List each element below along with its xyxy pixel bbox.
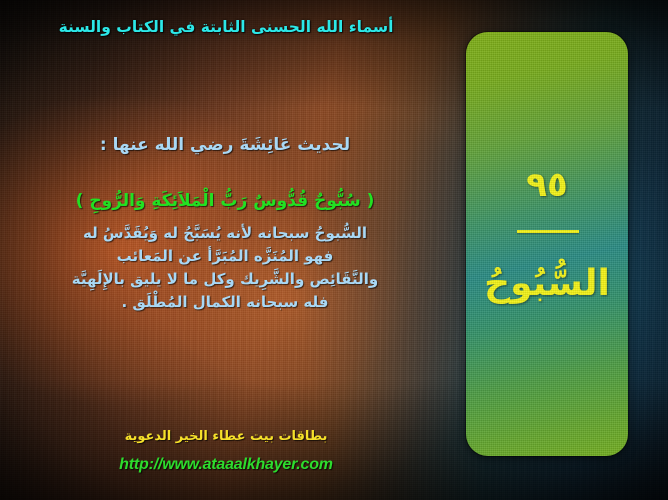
main-text-block: لحديث عَائِشَةَ رضي الله عنها : ( سُبُّو… [10,132,440,314]
explanation-line-3: والنَّقَائِص والشَّرِيك وكل ما لا يليق ب… [10,268,440,291]
name-panel: ٩٥ السُّبُوحُ [466,32,628,456]
footer-credit: بطاقات بيت عطاء الخير الدعوية [0,428,452,446]
page-title: أسماء الله الحسنى الثابتة في الكتاب والس… [0,18,452,36]
narration-line: لحديث عَائِشَةَ رضي الله عنها : [10,132,440,158]
explanation-line-2: فهو المُنَزَّه المُبَرَّأ عن المَعائب [10,245,440,268]
hadith-quote: ( سُبُّوحٌ قُدُّوسٌ رَبُّ الْمَلاَئِكَةِ… [10,188,440,214]
panel-divider [517,230,579,233]
explanation-line-1: السُّبوحُ سبحانه لأنه يُسَبَّحُ له وَيُق… [10,222,440,245]
panel-number: ٩٥ [466,166,628,204]
footer-url[interactable]: http://www.ataaalkhayer.com [0,456,452,474]
explanation-line-4: فله سبحانه الكمال المُطْلَق . [10,291,440,314]
panel-divine-name: السُّبُوحُ [466,258,628,310]
footer: بطاقات بيت عطاء الخير الدعوية http://www… [0,428,452,474]
name-of-allah-card: أسماء الله الحسنى الثابتة في الكتاب والس… [0,0,668,500]
